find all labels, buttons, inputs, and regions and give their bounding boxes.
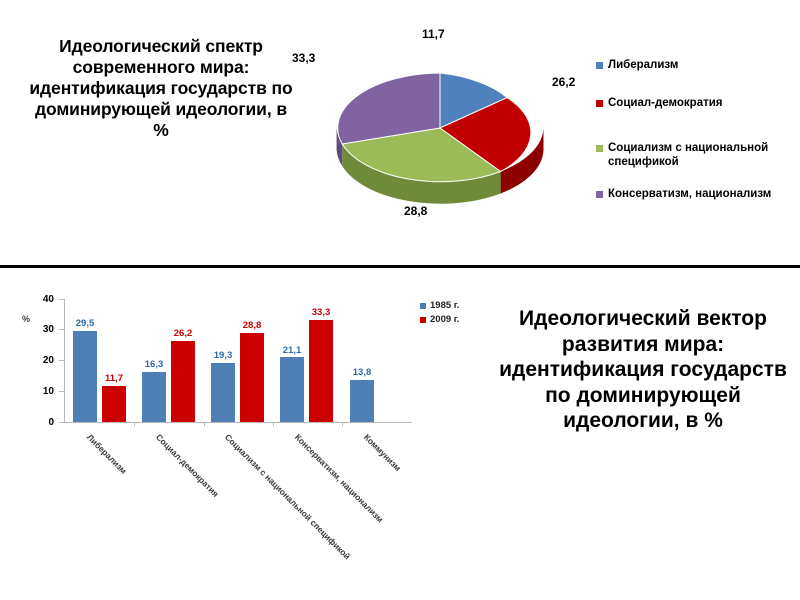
pie-legend-item-liberalism: Либерализм xyxy=(596,58,798,72)
bar-2009-social-democracy xyxy=(171,341,195,422)
pie-chart-panel: Идеологический спектр современного мира:… xyxy=(0,0,800,267)
legend-swatch-icon xyxy=(596,145,603,152)
x-label-social-democracy: Социал-демократия xyxy=(154,432,221,499)
x-axis-tick xyxy=(342,422,343,426)
bar-chart: % 40 30 20 10 0 29,5 11,7 16,3 26,2 xyxy=(10,276,480,576)
bar-value-1985-socialism: 19,3 xyxy=(208,350,238,361)
pie-value-socialism: 28,8 xyxy=(404,204,427,218)
bar-value-2009-social-democracy: 26,2 xyxy=(168,328,198,339)
bar-plot-area: 29,5 11,7 16,3 26,2 19,3 28,8 21,1 33,3 … xyxy=(65,299,412,422)
bar-value-2009-liberalism: 11,7 xyxy=(99,373,129,384)
y-tick-10: 10 xyxy=(34,386,54,397)
bar-value-2009-conservatism: 33,3 xyxy=(306,307,336,318)
bar-chart-legend: 1985 г. 2009 г. xyxy=(420,300,459,328)
bar-chart-title: Идеологический вектор развития мира: иде… xyxy=(498,306,788,434)
bar-2009-liberalism xyxy=(102,386,126,422)
pie-chart-graphic xyxy=(300,18,580,248)
pie-legend-label: Либерализм xyxy=(608,58,678,72)
pie-chart-title: Идеологический спектр современного мира:… xyxy=(26,36,296,141)
pie-legend-label: Консерватизм, национализм xyxy=(608,187,771,201)
bar-1985-socialism xyxy=(211,363,235,422)
pie-legend-label: Социализм с национальной спецификой xyxy=(608,141,798,170)
bar-legend-label: 1985 г. xyxy=(430,300,459,311)
bar-1985-communism xyxy=(350,380,374,422)
bar-value-1985-conservatism: 21,1 xyxy=(277,345,307,356)
x-axis-tick xyxy=(204,422,205,426)
bar-2009-socialism xyxy=(240,333,264,422)
pie-value-social-democracy: 26,2 xyxy=(552,75,575,89)
legend-swatch-icon xyxy=(596,62,603,69)
legend-swatch-icon xyxy=(596,100,603,107)
y-tick-20: 20 xyxy=(34,355,54,366)
bar-value-1985-communism: 13,8 xyxy=(347,367,377,378)
pie-legend-item-social-democracy: Социал-демократия xyxy=(596,96,798,110)
x-label-communism: Коммунизм xyxy=(362,432,403,473)
bar-chart-panel: % 40 30 20 10 0 29,5 11,7 16,3 26,2 xyxy=(0,268,800,600)
y-tick-0: 0 xyxy=(34,417,54,428)
bar-legend-item-2009: 2009 г. xyxy=(420,314,459,325)
bar-value-1985-liberalism: 29,5 xyxy=(70,318,100,329)
pie-legend-item-conservatism: Консерватизм, национализм xyxy=(596,187,798,201)
pie-value-liberalism: 11,7 xyxy=(422,27,445,41)
y-tick-30: 30 xyxy=(34,324,54,335)
legend-swatch-icon xyxy=(420,303,426,309)
bar-legend-item-1985: 1985 г. xyxy=(420,300,459,311)
bar-1985-conservatism xyxy=(280,357,304,422)
pie-legend: Либерализм Социал-демократия Социализм с… xyxy=(596,58,798,201)
legend-swatch-icon xyxy=(596,191,603,198)
bar-legend-label: 2009 г. xyxy=(430,314,459,325)
y-axis-unit-label: % xyxy=(22,314,30,324)
pie-chart: 11,7 26,2 28,8 33,3 xyxy=(300,18,580,248)
x-axis-line xyxy=(64,422,412,423)
x-axis-tick xyxy=(273,422,274,426)
x-label-socialism: Социализм с национальной спецификой xyxy=(223,432,352,561)
y-tick-40: 40 xyxy=(34,294,54,305)
pie-legend-label: Социал-демократия xyxy=(608,96,723,110)
bar-value-1985-social-democracy: 16,3 xyxy=(139,359,169,370)
legend-swatch-icon xyxy=(420,317,426,323)
x-axis-tick xyxy=(134,422,135,426)
bar-value-2009-socialism: 28,8 xyxy=(237,320,267,331)
bar-2009-conservatism xyxy=(309,320,333,422)
pie-legend-item-socialism: Социализм с национальной спецификой xyxy=(596,141,798,170)
bar-1985-liberalism xyxy=(73,331,97,422)
pie-value-conservatism: 33,3 xyxy=(292,51,315,65)
bar-1985-social-democracy xyxy=(142,372,166,422)
x-label-liberalism: Либерализм xyxy=(85,432,129,476)
